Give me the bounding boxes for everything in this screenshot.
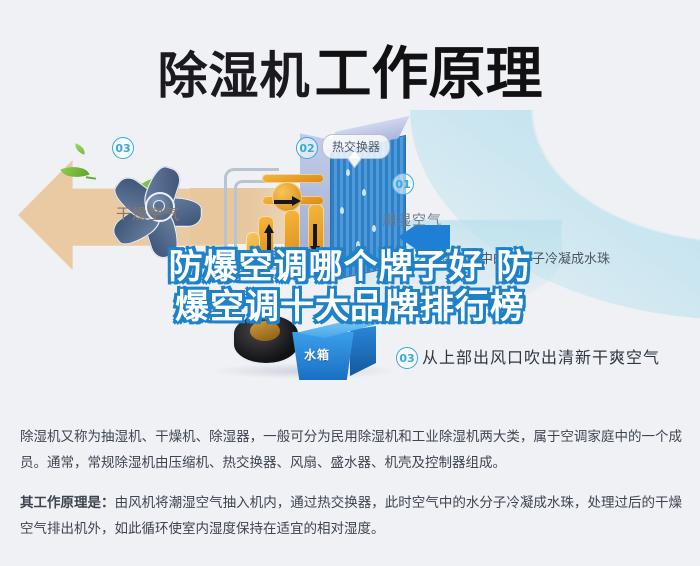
dehumidifier-diagram: 水箱 03 干燥空气 02 热交换器 01 潮湿空气 02 潮湿空气中的水分子冷… — [0, 115, 700, 410]
paragraph-2-rest: 由风机将潮湿空气抽入机内，通过热交换器，此时空气中的水分子冷凝成水珠，处理过后的… — [20, 495, 682, 537]
water-tank-graphic: 水箱 — [288, 320, 374, 382]
label-condensation: 潮湿空气中的水分子冷凝成水珠 — [428, 248, 610, 267]
leaf-stem-graphic — [86, 176, 96, 179]
compressor-coil-assembly-graphic — [228, 160, 334, 278]
label-outlet: 从上部出风口吹出清新干爽空气 — [422, 344, 660, 368]
callout-heat-exchanger: 热交换器 — [322, 134, 390, 159]
infographic-page: 除湿机工作原理 — [0, 0, 700, 566]
paragraph-2-lead: 其工作原理是： — [20, 495, 115, 511]
badge-03-dry-air: 03 — [112, 137, 134, 159]
badge-03-outlet: 03 — [396, 347, 418, 369]
badge-02-heat-exchanger: 02 — [296, 137, 318, 159]
page-title: 除湿机工作原理 — [0, 28, 700, 110]
badge-01-moist-air: 01 — [392, 173, 414, 195]
paragraph-1: 除湿机又称为抽湿机、干燥机、除湿器，一般可分为民用除湿机和工业除湿机两大类，属于… — [20, 424, 682, 476]
title-part-2: 工作原理 — [315, 41, 543, 107]
label-moist-air: 潮湿空气 — [382, 210, 442, 230]
title-part-1: 除湿机 — [158, 47, 311, 105]
leaf-icon — [73, 143, 87, 155]
compressor-drum-inner-graphic — [250, 321, 280, 341]
label-dry-air: 干燥空气 — [116, 203, 180, 224]
water-tank-label: 水箱 — [304, 346, 330, 363]
paragraph-2: 其工作原理是：由风机将潮湿空气抽入机内，通过热交换器，此时空气中的水分子冷凝成水… — [20, 490, 682, 542]
badge-02-condensation: 02 — [404, 248, 426, 270]
article-body: 除湿机又称为抽湿机、干燥机、除湿器，一般可分为民用除湿机和工业除湿机两大类，属于… — [20, 424, 682, 556]
